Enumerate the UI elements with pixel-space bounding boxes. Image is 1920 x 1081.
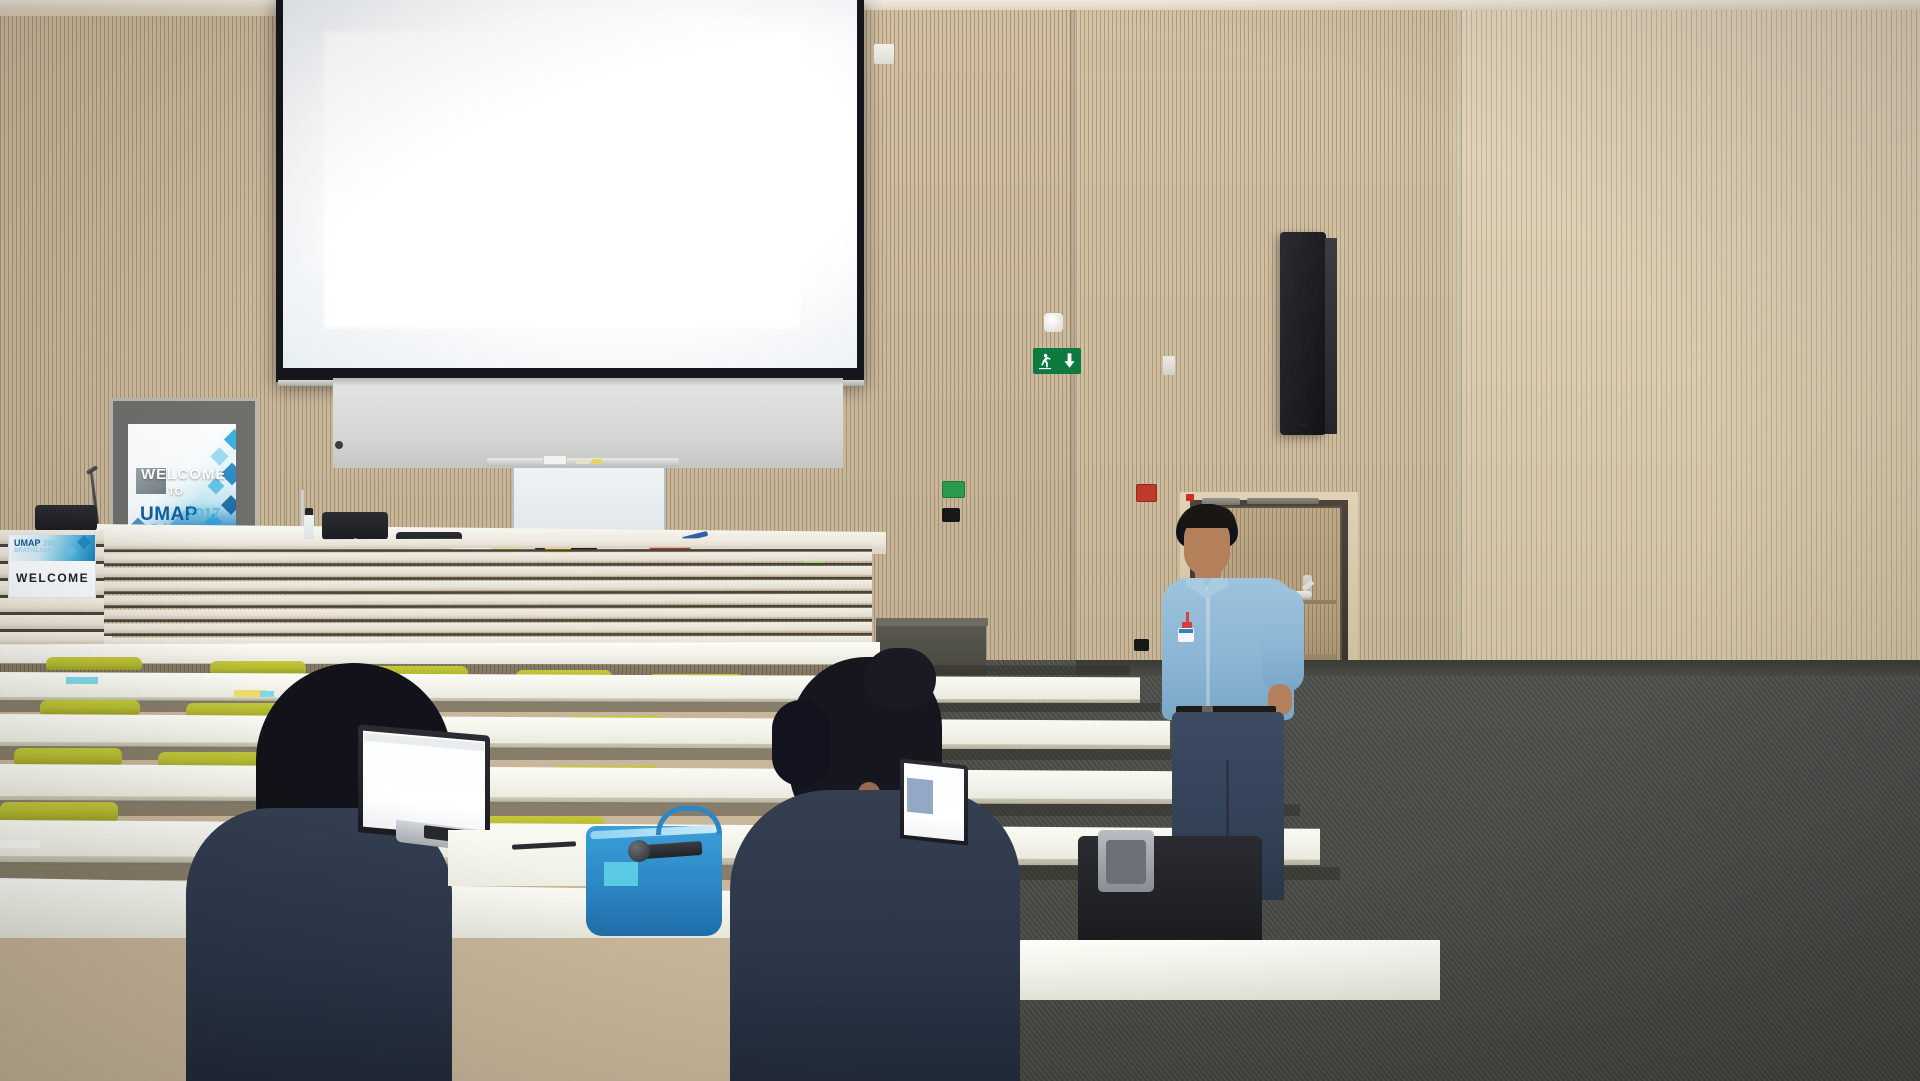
poster-year-text: 2017 <box>187 505 220 522</box>
lectern-slat-gap <box>100 549 872 552</box>
seat[interactable] <box>40 700 140 715</box>
paper-sheet <box>0 840 40 848</box>
poster-mosaic-square <box>221 495 236 515</box>
lectern-logo-city: BRATISLAVA <box>14 548 51 554</box>
attendee-left-torso <box>186 808 452 1081</box>
lectern-slat-gap <box>100 605 872 608</box>
attendee-right-hair-curl <box>772 700 830 786</box>
seat[interactable] <box>14 748 122 765</box>
running-man-icon <box>1037 352 1053 370</box>
down-arrow-icon <box>1062 352 1077 370</box>
water-bottle-cap <box>305 508 313 515</box>
poster-mosaic-square <box>224 429 236 450</box>
attendee-left-desk-surface <box>448 830 588 886</box>
logo-mosaic-square <box>77 535 91 549</box>
lectern-slat <box>100 538 872 549</box>
projection-screen-housing <box>333 378 843 468</box>
badge-color-band <box>1179 629 1193 633</box>
smoke-detector <box>1044 313 1063 332</box>
door-alarm-indicator <box>1186 494 1194 501</box>
lectern-slat-gap <box>100 577 872 580</box>
podium-slat <box>0 615 104 629</box>
lecture-hall-photo: WELCOME TO UMAP 2017 BRATISLAVA 9-12th J… <box>0 0 1920 1081</box>
door-closer-body <box>1247 498 1319 504</box>
laptop-right-content-block <box>907 778 933 815</box>
attendee-right-torso <box>730 790 1020 1081</box>
poster-welcome-text: WELCOME <box>141 466 227 483</box>
projection-light-area <box>324 32 800 328</box>
poster-to-text: TO <box>168 486 183 498</box>
lectern-slat <box>100 580 872 591</box>
seat[interactable] <box>46 657 142 670</box>
wall-speaker-bracket <box>1325 238 1337 434</box>
lectern-slat-gap <box>100 591 872 594</box>
lectern-slat-gap <box>100 633 872 636</box>
presenter-hair-front <box>1180 506 1236 528</box>
lectern-slat <box>100 566 872 577</box>
whiteboard-marker <box>576 459 590 464</box>
green-door-release-button[interactable] <box>942 481 965 498</box>
seat[interactable] <box>210 661 306 674</box>
podium-slat <box>0 598 104 612</box>
wall-speaker-badge: ··· <box>1292 422 1314 429</box>
lectern-slat-gap <box>100 563 872 566</box>
projection-screen-frame <box>276 0 864 382</box>
wall-sensor-plate <box>1163 356 1175 375</box>
sticky-note <box>260 691 274 697</box>
lectern-welcome-sign: UMAP 2017 BRATISLAVA WELCOME <box>8 534 96 598</box>
lectern-logo-year: 2017 <box>43 539 61 548</box>
lectern-slat <box>100 594 872 605</box>
presenter-shirt-placket <box>1206 586 1210 712</box>
wall-speaker-cabinet <box>1280 232 1326 435</box>
conference-bag-patch <box>604 862 638 886</box>
lectern-slat <box>100 552 872 563</box>
lectern-slat <box>100 608 872 619</box>
poster-mosaic-square <box>210 447 228 465</box>
wall-switch[interactable] <box>1134 639 1149 651</box>
logo-mosaic-square <box>65 545 76 556</box>
handheld-microphone-head <box>628 840 650 862</box>
wall-access-plate <box>874 44 894 64</box>
backpack-tag-window <box>1106 840 1146 884</box>
lectern-slat <box>100 622 872 633</box>
seat[interactable] <box>0 802 118 821</box>
attendee-right-hair-curl <box>864 648 936 710</box>
fire-alarm-call-point[interactable] <box>1136 484 1157 502</box>
lectern-logo-acronym: UMAP <box>14 538 41 548</box>
emergency-exit-sign <box>1033 348 1081 374</box>
stage-step-top <box>876 618 988 626</box>
seating-row-desk-front-right <box>1020 940 1440 1000</box>
whiteboard-marker <box>592 459 602 464</box>
whiteboard-eraser <box>543 455 567 465</box>
door-control-switch[interactable] <box>942 508 960 522</box>
presenter-sleeve-right <box>1262 588 1304 692</box>
lectern-slat-gap <box>100 619 872 622</box>
chair-back <box>35 505 97 531</box>
sticky-note <box>66 677 98 684</box>
screen-housing-shadow <box>333 378 843 386</box>
podium-slat <box>0 632 104 644</box>
screen-roller-knob <box>335 441 343 449</box>
lectern-sign-logo-band: UMAP 2017 BRATISLAVA <box>9 535 95 561</box>
lectern-sign-text: WELCOME <box>16 571 89 585</box>
